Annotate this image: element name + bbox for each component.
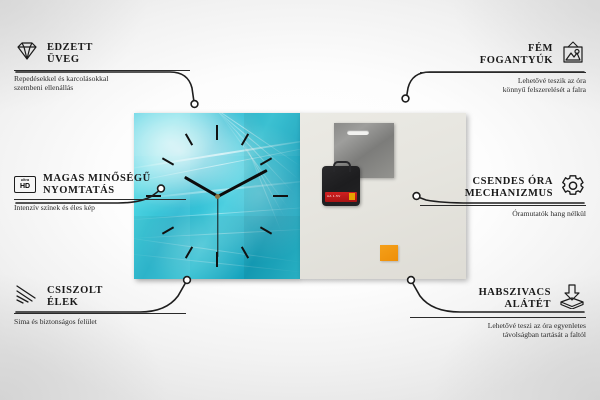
feature-divider — [14, 313, 186, 314]
feature-title: FÉM FOGANTYÚK — [480, 43, 553, 66]
polished-edges-icon — [14, 283, 40, 310]
clock-mechanism: AA 1.5V — [322, 166, 360, 206]
feature-divider — [14, 199, 186, 200]
feature-title: CSENDES ÓRA MECHANIZMUS — [465, 176, 553, 199]
feature-description: Lehetővé teszi az óra egyenletes távolsá… — [410, 321, 586, 340]
feature-fem-fogantyuk: FÉM FOGANTYÚK Lehetővé teszik az óra kön… — [420, 40, 586, 95]
feature-divider — [420, 205, 586, 206]
feature-title: HABSZIVACS ALÁTÉT — [479, 287, 551, 310]
foam-spacer-pad — [380, 245, 398, 261]
picture-hanger-icon — [560, 40, 586, 69]
clock-tick — [216, 125, 218, 140]
connector-dot — [191, 101, 198, 108]
gear-icon — [560, 173, 586, 202]
connector-dot — [402, 95, 409, 102]
feature-divider — [410, 317, 586, 318]
feature-description: Intenzív színek és éles kép — [14, 203, 186, 212]
feature-divider — [420, 72, 586, 73]
product-infographic: AA 1.5V — [0, 0, 600, 400]
feature-divider — [14, 70, 190, 71]
feature-edzett-uveg: EDZETT ÜVEG Repedésekkel és karcolásokka… — [14, 40, 190, 93]
feature-title: MAGAS MINŐSÉGŰ NYOMTATÁS — [43, 173, 151, 196]
ultra-hd-icon-bottom: HD — [20, 183, 30, 190]
battery-plus-terminal — [349, 193, 355, 200]
hanger-slot — [347, 130, 369, 135]
feature-csendes-ora-mechanizmus: CSENDES ÓRA MECHANIZMUS Óramutatók hang … — [420, 173, 586, 218]
feature-habszivacs-alatet: HABSZIVACS ALÁTÉT Lehetővé teszi az óra … — [410, 283, 586, 340]
mechanism-hanger-loop — [333, 161, 351, 172]
feature-csiszolt-elek: CSISZOLT ÉLEK Sima és biztonságos felüle… — [14, 283, 186, 326]
feature-description: Repedésekkel és karcolásokkal szembeni e… — [14, 74, 190, 93]
feature-description: Lehetővé teszik az óra könnyű felszerelé… — [420, 76, 586, 95]
clock-center-cap — [215, 194, 220, 199]
foam-pad-icon — [558, 283, 586, 314]
feature-description: Sima és biztonságos felület — [14, 317, 186, 326]
feature-magas-minosegu-nyomtatas: ultra HD MAGAS MINŐSÉGŰ NYOMTATÁS Intenz… — [14, 173, 186, 212]
ultra-hd-icon: ultra HD — [14, 176, 36, 193]
feature-title: CSISZOLT ÉLEK — [47, 285, 103, 308]
feature-title: EDZETT ÜVEG — [47, 42, 93, 65]
second-hand — [217, 196, 218, 257]
feature-description: Óramutatók hang nélkül — [420, 209, 586, 218]
battery-label: AA 1.5V — [327, 194, 341, 198]
diamond-icon — [14, 40, 40, 67]
battery: AA 1.5V — [325, 192, 357, 202]
clock-tick — [273, 195, 288, 197]
